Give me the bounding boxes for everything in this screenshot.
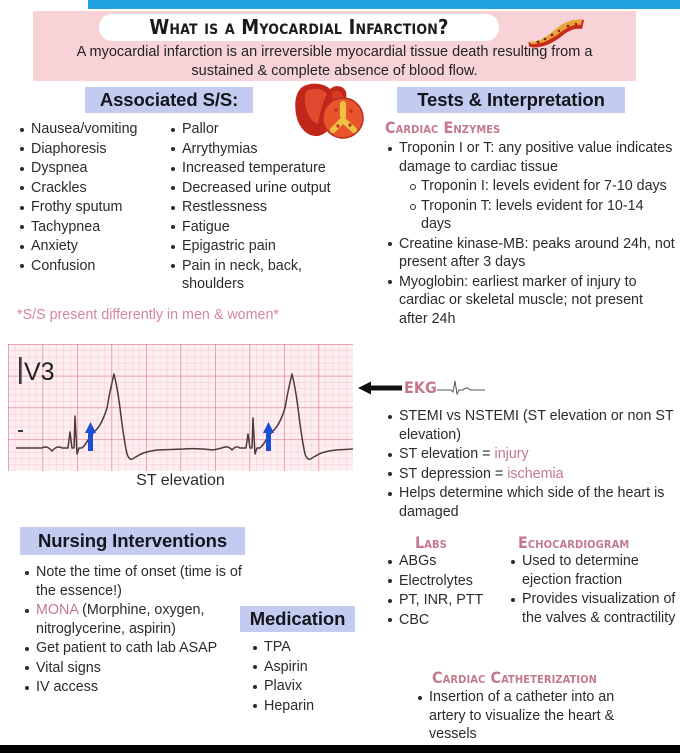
list-item: Confusion [17,257,167,276]
associated-ss-column-1: Nausea/vomiting Diaphoresis Dyspnea Crac… [17,120,167,276]
ekg-lead-label: V3 [24,358,55,386]
list-item: Pallor [168,120,358,139]
associated-ss-column-2: Pallor Arrythymias Increased temperature… [168,120,358,295]
list-item: Arrythymias [168,140,358,159]
list-item: MONA (Morphine, oxygen, nitroglycerine, … [22,601,247,638]
medication-list: TPA Aspirin Plavix Heparin [250,638,360,715]
list-item: Diaphoresis [17,140,167,159]
cardiac-enzymes-list-2: Creatine kinase-MB: peaks around 24h, no… [385,235,675,329]
list-item: TPA [250,638,360,657]
troponin-sublist: Troponin I: levels evident for 7-10 days… [407,177,675,234]
ekg-caption: ST elevation [8,472,353,490]
list-item: Decreased urine output [168,179,358,198]
list-item: ST depression = ischemia [385,465,677,484]
subheader-cardiac-catheterization: Cardiac Catheterization [432,668,597,687]
list-item: Creatine kinase-MB: peaks around 24h, no… [385,235,675,272]
subheader-cardiac-enzymes: Cardiac Enzymes [385,118,675,137]
nursing-block: Note the time of onset (time is of the e… [22,563,247,698]
ss-note: *S/S present differently in men & women* [17,306,367,324]
section-header-medication: Medication [240,606,355,632]
nursing-list: Note the time of onset (time is of the e… [22,563,247,697]
list-item: Tachypnea [17,218,167,237]
list-item: Pain in neck, back, shoulders [168,257,358,294]
list-item: Used to determine ejection fraction [508,552,680,589]
list-item: Myoglobin: earliest marker of injury to … [385,273,675,329]
subheader-echocardiogram: Echocardiogram [518,533,629,552]
list-item: Restlessness [168,198,358,217]
list-item: Increased temperature [168,159,358,178]
bottom-black-bar [0,745,680,753]
list-item: Get patient to cath lab ASAP [22,639,247,658]
section-header-associated-ss: Associated S/S: [85,87,253,113]
list-item: PT, INR, PTT [385,591,495,610]
labs-block: ABGs Electrolytes PT, INR, PTT CBC [385,552,495,630]
echocardiogram-list: Used to determine ejection fraction Prov… [508,552,680,627]
list-item: Troponin I: levels evident for 7-10 days [407,177,675,196]
section-header-tests: Tests & Interpretation [397,87,625,113]
list-item: CBC [385,611,495,630]
clogged-artery-icon [524,16,586,48]
list-item: Anxiety [17,237,167,256]
section-header-nursing: Nursing Interventions [20,527,245,555]
list-item: Note the time of onset (time is of the e… [22,563,247,600]
list-item: Dyspnea [17,159,167,178]
list-item: ST elevation = injury [385,445,677,464]
list-item: IV access [22,678,247,697]
list-item: Troponin T: levels evident for 10-14 day… [407,197,675,234]
left-arrow-icon [358,381,402,395]
top-blue-bar [88,0,680,9]
medication-block: TPA Aspirin Plavix Heparin [250,638,360,716]
cardiac-catheterization-list: Insertion of a catheter into an artery t… [415,688,645,744]
labs-list: ABGs Electrolytes PT, INR, PTT CBC [385,552,495,629]
echocardiogram-block: Used to determine ejection fraction Prov… [508,552,680,628]
list-item: Aspirin [250,658,360,677]
cardiac-enzymes-list: Troponin I or T: any positive value indi… [385,139,675,176]
list-item: Heparin [250,697,360,716]
list-item: Plavix [250,677,360,696]
list-item: Troponin I or T: any positive value indi… [385,139,675,176]
definition-text: A myocardial infarction is an irreversib… [47,43,622,81]
list-item: Fatigue [168,218,358,237]
list-item: Vital signs [22,659,247,678]
cardiac-catheterization-block: Insertion of a catheter into an artery t… [415,688,645,745]
ekg-label: EKG [404,378,437,397]
ss-list-1: Nausea/vomiting Diaphoresis Dyspnea Crac… [17,120,167,275]
list-item: Nausea/vomiting [17,120,167,139]
ekg-strip: V3 [8,344,353,471]
tests-cardiac-enzymes-block: Cardiac Enzymes Troponin I or T: any pos… [385,118,675,329]
ekg-waveform-icon [437,378,485,396]
list-item: Epigastric pain [168,237,358,256]
ekg-findings-list: STEMI vs NSTEMI (ST elevation or non ST … [385,407,677,521]
list-item: Electrolytes [385,572,495,591]
list-item: Provides visualization of the valves & c… [508,590,680,627]
ss-list-2: Pallor Arrythymias Increased temperature… [168,120,358,294]
list-item: Helps determine which side of the heart … [385,484,677,521]
list-item: STEMI vs NSTEMI (ST elevation or non ST … [385,407,677,444]
subheader-labs: Labs [415,533,447,552]
list-item: Crackles [17,179,167,198]
list-item: Frothy sputum [17,198,167,217]
list-item: ABGs [385,552,495,571]
ekg-findings-block: STEMI vs NSTEMI (ST elevation or non ST … [385,407,677,522]
page-title: What is a Myocardial Infarction? [99,13,499,41]
list-item: Insertion of a catheter into an artery t… [415,688,645,744]
